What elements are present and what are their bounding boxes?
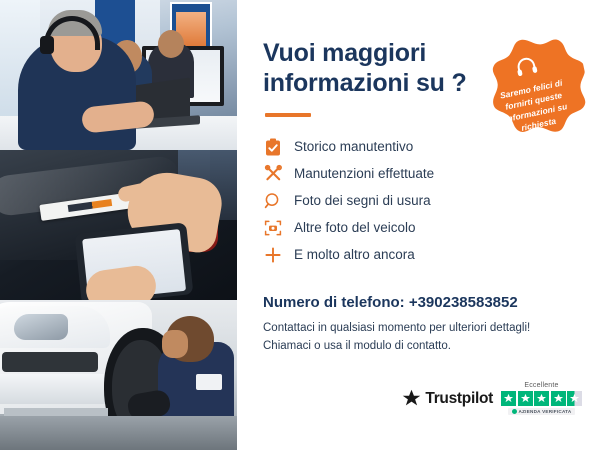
photo-call-center-agent [0, 0, 237, 150]
contact-line-1: Contattaci in qualsiasi momento per ulte… [263, 320, 578, 338]
callout-badge: Saremo felici di fornirti queste informa… [466, 27, 599, 160]
phone-number-line: Numero di telefono: +390238583852 [263, 294, 578, 311]
list-item-label: Storico manutentivo [294, 139, 413, 154]
headset-icon [514, 55, 541, 84]
star-filled [551, 391, 566, 406]
clipboard-check-icon [263, 137, 283, 157]
photo-car-inspection-ruler [0, 150, 237, 300]
photo-mechanic-wheel [0, 300, 237, 450]
list-item-label: Foto dei segni di usura [294, 193, 431, 208]
trustpilot-rating-label: Eccellente [524, 382, 558, 389]
list-item-label: Manutenzioni effettuate [294, 166, 434, 181]
list-item: Foto dei segni di usura [263, 187, 578, 214]
verified-check-icon [512, 409, 517, 414]
trustpilot-stars [501, 391, 582, 406]
camera-frame-icon [263, 218, 283, 238]
title-underline-divider [265, 113, 311, 117]
contact-instructions: Contattaci in qualsiasi momento per ulte… [263, 320, 578, 356]
verified-label: AZIENDA VERIFICATA [519, 409, 572, 414]
page-title: Vuoi maggiori informazioni su ? [263, 38, 478, 98]
list-item-label: Altre foto del veicolo [294, 220, 416, 235]
photo-column [0, 0, 237, 450]
list-item: E molto altro ancora [263, 241, 578, 268]
trustpilot-wordmark: Trustpilot [425, 390, 493, 408]
contact-line-2: Chiamaci o usa il modulo di contatto. [263, 338, 578, 356]
promo-ad: Vuoi maggiori informazioni su ? Storico … [0, 0, 600, 450]
trustpilot-logo: Trustpilot [402, 389, 493, 408]
star-filled [501, 391, 516, 406]
star-filled [518, 391, 533, 406]
trustpilot-score-block: Eccellente [501, 382, 582, 415]
status-badge: AZIENDA VERIFICATA [508, 408, 576, 415]
list-item: Altre foto del veicolo [263, 214, 578, 241]
list-item-label: E molto altro ancora [294, 247, 415, 262]
star-half [567, 391, 582, 406]
list-item: Manutenzioni effettuate [263, 160, 578, 187]
star-filled [534, 391, 549, 406]
magnifier-icon [263, 191, 283, 211]
content-panel: Vuoi maggiori informazioni su ? Storico … [237, 0, 600, 450]
feature-list: Storico manutentivo Manutenzioni effettu… [263, 133, 578, 268]
trustpilot-star-icon [402, 389, 421, 408]
trustpilot-rating[interactable]: Trustpilot Eccellente [402, 382, 582, 415]
tools-cross-icon [263, 164, 283, 184]
plus-icon [263, 245, 283, 265]
